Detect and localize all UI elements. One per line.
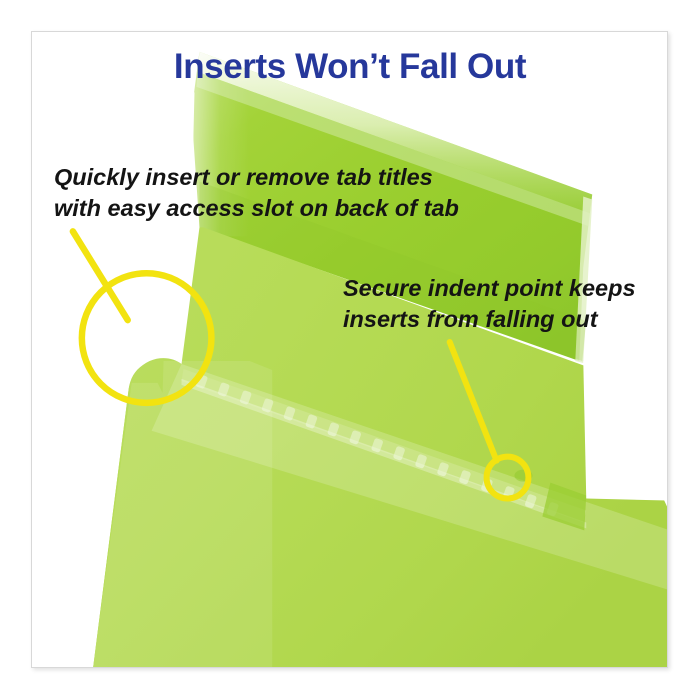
callout-circle-indent-point	[487, 457, 529, 499]
screenshot-canvas: Inserts Won’t Fall Out Quickly insert or…	[0, 0, 700, 700]
callout-markers-layer	[32, 32, 667, 667]
callout-circle-access-slot	[82, 273, 212, 403]
callout-text-indent-point-line-2: inserts from falling out	[343, 304, 636, 335]
callout-text-access-slot-line-1: Quickly insert or remove tab titles	[54, 162, 459, 193]
callout-text-indent-point-line-1: Secure indent point keeps	[343, 273, 636, 304]
callout-text-access-slot-line-2: with easy access slot on back of tab	[54, 193, 459, 224]
product-photo-frame	[31, 31, 668, 668]
callout-leader-line-indent-point	[450, 342, 497, 461]
page-title: Inserts Won’t Fall Out	[0, 46, 700, 88]
callout-text-access-slot: Quickly insert or remove tab titles with…	[54, 162, 459, 224]
callout-text-indent-point: Secure indent point keeps inserts from f…	[343, 273, 636, 335]
